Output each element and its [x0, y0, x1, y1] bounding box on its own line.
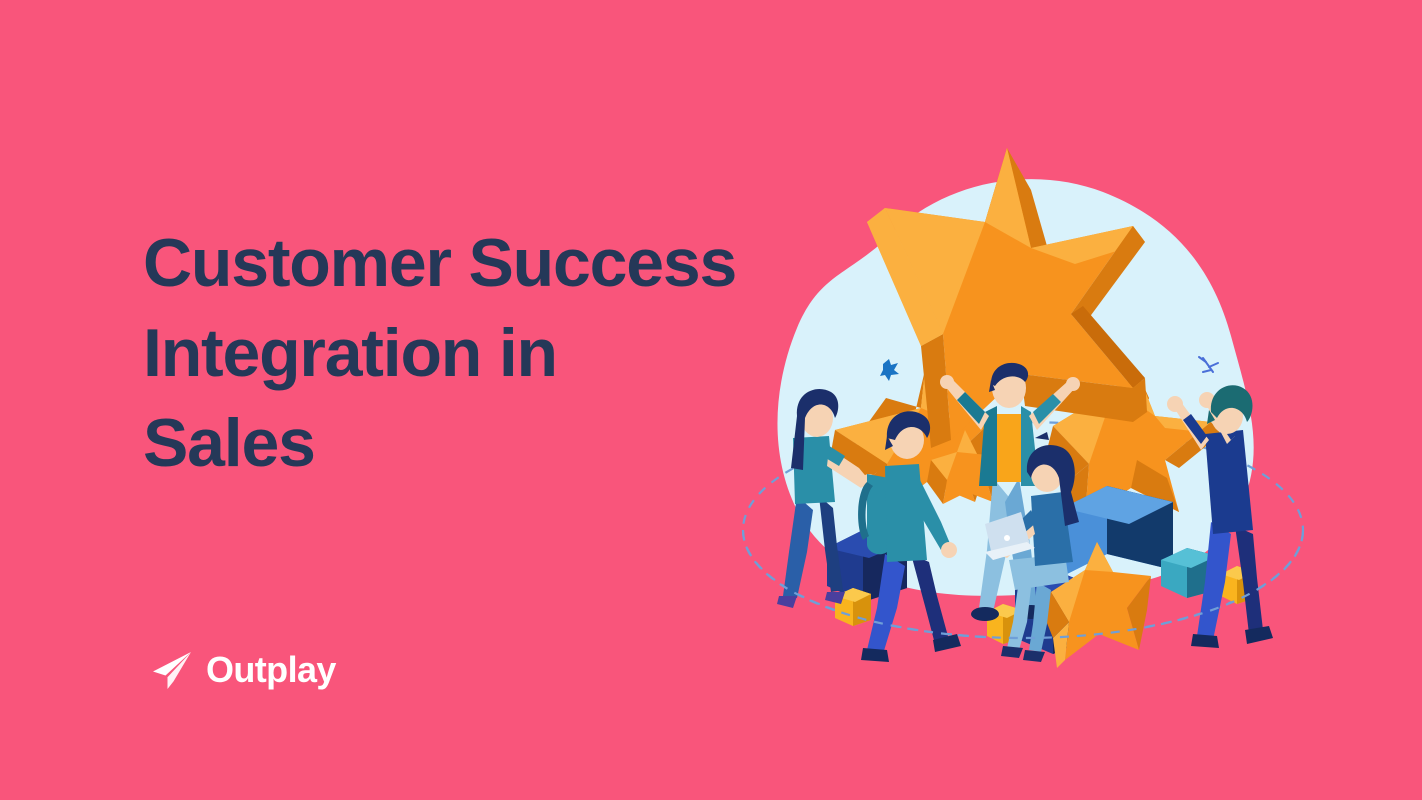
brand-wordmark: Outplay: [206, 652, 336, 688]
page-title: Customer Success Integration in Sales: [143, 218, 743, 488]
brand-logo[interactable]: Outplay: [150, 648, 336, 692]
banner-canvas: Customer Success Integration in Sales Ou…: [0, 0, 1422, 800]
headline-block: Customer Success Integration in Sales: [143, 218, 743, 488]
paper-plane-icon: [150, 648, 194, 692]
hero-illustration: [735, 130, 1295, 690]
